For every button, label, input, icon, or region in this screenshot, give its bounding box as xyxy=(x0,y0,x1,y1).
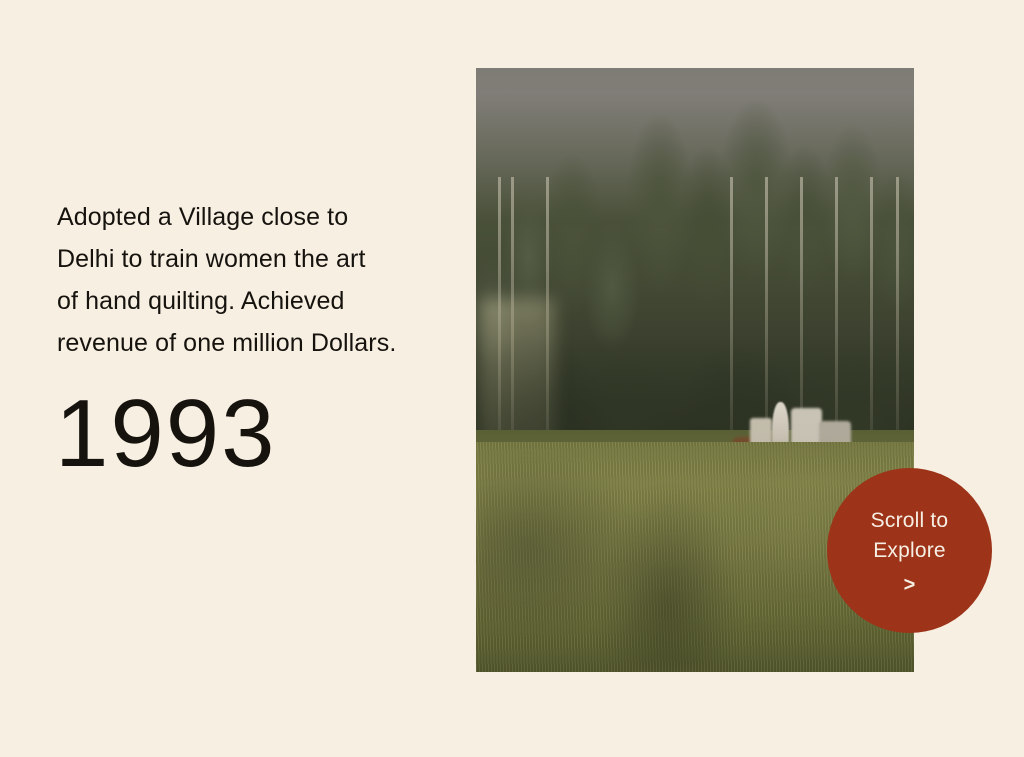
milestone-year: 1993 xyxy=(55,386,477,482)
timeline-slide: Adopted a Village close to Delhi to trai… xyxy=(0,0,1024,757)
scroll-to-explore-button[interactable]: Scroll to Explore > xyxy=(827,468,992,633)
chevron-right-icon: > xyxy=(904,575,916,595)
milestone-description: Adopted a Village close to Delhi to trai… xyxy=(57,196,477,364)
scroll-to-explore-label: Scroll to Explore xyxy=(871,506,949,566)
milestone-text-column: Adopted a Village close to Delhi to trai… xyxy=(57,196,477,482)
